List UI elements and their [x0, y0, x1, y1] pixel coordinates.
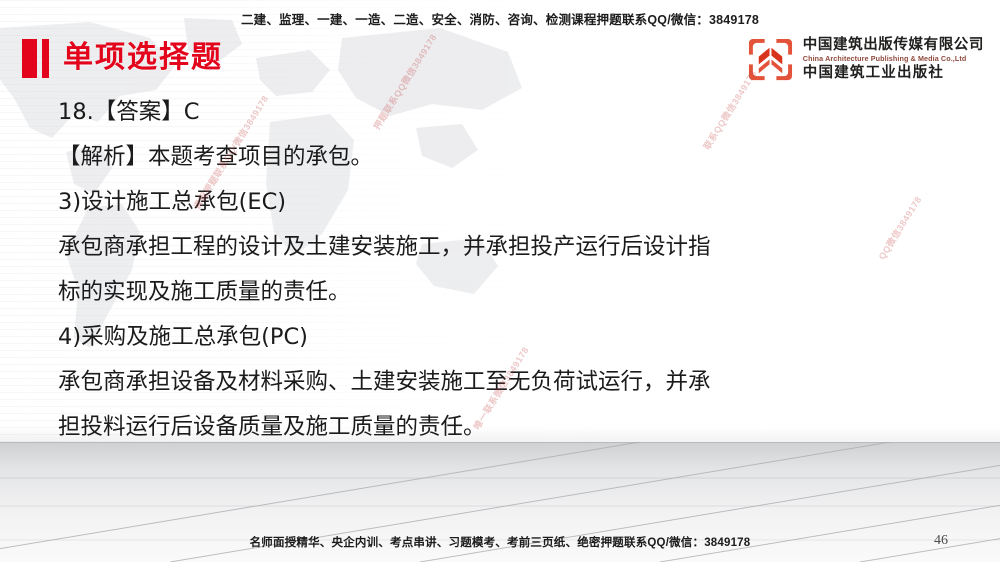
title-accent-bar-wide-icon [22, 39, 37, 78]
publisher-logo: 中国建筑出版传媒有限公司 China Architecture Publishi… [747, 36, 984, 83]
page-number: 46 [934, 533, 948, 549]
publisher-company-name-cn: 中国建筑出版传媒有限公司 [803, 36, 984, 54]
body-line: 担投料运行后设备质量及施工质量的责任。 [58, 405, 938, 450]
publisher-press-name-cn: 中国建筑工业出版社 [803, 64, 984, 83]
publisher-company-name-en: China Architecture Publishing & Media Co… [803, 54, 984, 64]
open-book-logo-icon [747, 36, 794, 83]
title-accent-bar-thin-icon [42, 39, 49, 78]
page-title: 单项选择题 [63, 43, 223, 73]
body-line: 4)采购及施工总承包(PC) [58, 315, 938, 360]
slide-title-row: 单项选择题 [22, 36, 223, 80]
body-line: 承包商承担工程的设计及土建安装施工，并承担投产运行后设计指 [58, 225, 938, 270]
body-line: 【解析】本题考查项目的承包。 [58, 135, 938, 180]
top-promo-banner: 二建、监理、一建、一造、二造、安全、消防、咨询、检测课程押题联系QQ/微信：38… [0, 9, 1000, 28]
footer-promo-text: 名师面授精华、央企内训、考点串讲、习题模考、考前三页纸、绝密押题联系QQ/微信：… [0, 534, 1000, 550]
body-line: 标的实现及施工质量的责任。 [58, 270, 938, 315]
body-line: 承包商承担设备及材料采购、土建安装施工至无负荷试运行，并承 [58, 360, 938, 405]
publisher-logo-text: 中国建筑出版传媒有限公司 China Architecture Publishi… [803, 36, 984, 83]
slide-body-content: 18.【答案】C 【解析】本题考查项目的承包。 3)设计施工总承包(EC) 承包… [58, 90, 938, 450]
body-line: 3)设计施工总承包(EC) [58, 180, 938, 225]
slide-canvas: 二建、监理、一建、一造、二造、安全、消防、咨询、检测课程押题联系QQ/微信：38… [0, 0, 1000, 562]
body-line: 18.【答案】C [58, 90, 938, 135]
